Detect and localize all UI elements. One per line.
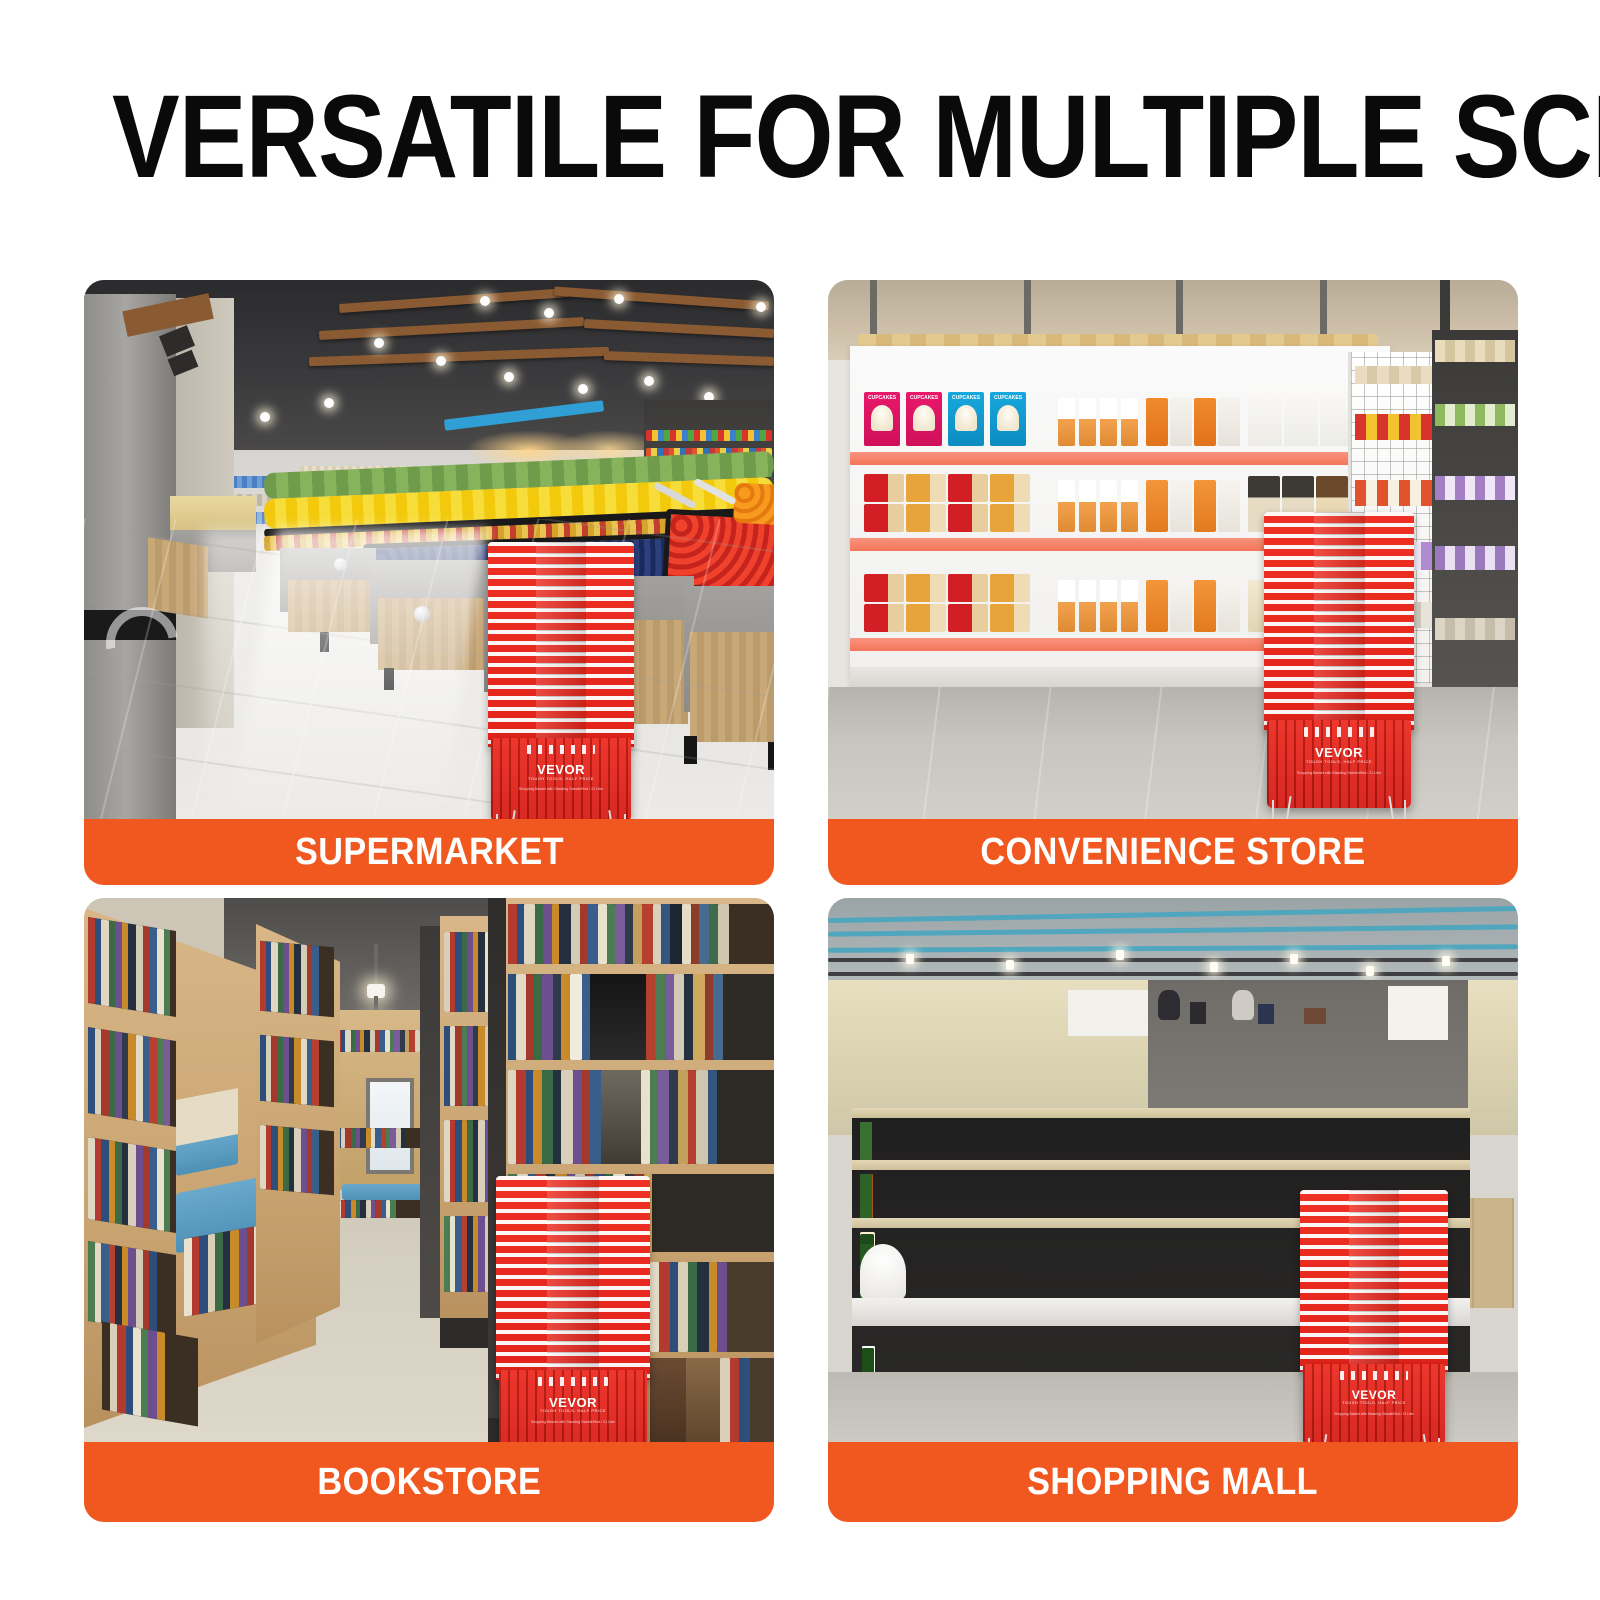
right-shelf-products [1435, 476, 1515, 500]
right-shelving [1432, 330, 1518, 699]
book-row [260, 941, 334, 1017]
track-light [614, 294, 624, 304]
product-drink-carton [1079, 580, 1096, 632]
right-shelf-products [1435, 546, 1515, 570]
product-cookie-box-gold [990, 504, 1030, 532]
panel-convenience-store: CUPCAKES CUPCAKES CUPCAKES [828, 280, 1518, 885]
book-row [650, 1262, 774, 1352]
panel-shopping-mall: VEVOR TOUGH TOOLS, HALF PRICE Shopping B… [828, 898, 1518, 1522]
product-cookie-box-red [864, 474, 904, 502]
brand-tagline: TOUGH TOOLS, HALF PRICE [1303, 1401, 1445, 1405]
endcap-products [1355, 480, 1439, 506]
basket-fine-print: Shopping Basket with Stacking Stand\nRed… [526, 1420, 621, 1424]
product-cookie-box-gold [906, 574, 946, 602]
product-cookie-box-red [948, 604, 988, 632]
ceiling-light [1006, 960, 1014, 970]
caption-bookstore: BOOKSTORE [84, 1442, 774, 1522]
track-light [544, 308, 554, 318]
product-white-box [1218, 480, 1240, 532]
shelf-board [852, 1160, 1470, 1170]
basket-stack-handles [488, 542, 634, 747]
vevor-basket-stack: VEVOR TOUGH TOOLS, HALF PRICE Shopping B… [488, 542, 634, 819]
book-row [88, 1027, 176, 1127]
basket-stack-handles [496, 1176, 650, 1380]
caption-label: SHOPPING MALL [1028, 1461, 1319, 1504]
product-cookie-box-red [864, 574, 904, 602]
product-cupcakes-blue: CUPCAKES [990, 392, 1026, 446]
basket-stack-center [547, 1176, 599, 1380]
bookstore-scene: VEVOR TOUGH TOOLS, HALF PRICE Shopping B… [84, 898, 774, 1442]
product-white-box [1170, 398, 1192, 446]
product-cookie-box-red [948, 474, 988, 502]
shopping-mall-photo: VEVOR TOUGH TOOLS, HALF PRICE Shopping B… [828, 898, 1518, 1442]
panel-supermarket: VEVOR TOUGH TOOLS, HALF PRICE Shopping B… [84, 280, 774, 885]
case-post [420, 926, 442, 1318]
shelf-row-1 [860, 1118, 1462, 1160]
product-cookie-box-gold [990, 604, 1030, 632]
product-drink-carton [1058, 398, 1075, 446]
basket-vent-slots [1340, 1371, 1408, 1380]
bookstore-photo: VEVOR TOUGH TOOLS, HALF PRICE Shopping B… [84, 898, 774, 1442]
product-drink-carton [1100, 480, 1117, 532]
product-cookie-box-red [948, 504, 988, 532]
product-cookie-box-gold [906, 604, 946, 632]
product-drink-carton [1100, 398, 1117, 446]
track-light [644, 376, 654, 386]
product-drink-carton [1058, 480, 1075, 532]
basket-fine-print: Shopping Basket with Stacking Stand\nRed… [516, 787, 606, 791]
track-light [480, 296, 490, 306]
basket-body: VEVOR TOUGH TOOLS, HALF PRICE Shopping B… [1267, 720, 1411, 808]
product-label: CUPCAKES [952, 395, 980, 401]
cupcake-illustration [955, 405, 977, 431]
track-light [324, 398, 334, 408]
product-drink-carton [1121, 480, 1138, 532]
track-light [374, 338, 384, 348]
book-row [508, 904, 774, 964]
book-row [88, 1137, 176, 1233]
basket-stack-center [1314, 512, 1365, 730]
caption-convenience-store: CONVENIENCE STORE [828, 819, 1518, 885]
pendant-light [374, 944, 378, 986]
brand-tagline: TOUGH TOOLS, HALF PRICE [491, 777, 631, 781]
product-orange-box [1194, 480, 1216, 532]
mannequin [1158, 990, 1180, 1020]
book-row [508, 1070, 774, 1164]
right-shelf-products [1435, 340, 1515, 362]
product-cookie-box-gold [990, 574, 1030, 602]
product-snack-bag [1248, 388, 1282, 446]
basket-stack-center [536, 542, 586, 747]
book-row [260, 1125, 334, 1195]
scene-grid: VEVOR TOUGH TOOLS, HALF PRICE Shopping B… [84, 280, 1518, 1522]
basket-vent-slots [1304, 727, 1373, 737]
track-light [578, 384, 588, 394]
ceiling-light [906, 954, 914, 964]
page-title: VERSATILE FOR MULTIPLE SCENES [112, 78, 1488, 196]
product-cookie-box-red [864, 604, 904, 632]
ceiling-light [1366, 966, 1374, 976]
caption-label: SUPERMARKET [294, 831, 563, 874]
product-snack-bag [1284, 388, 1318, 446]
supermarket-scene: VEVOR TOUGH TOOLS, HALF PRICE Shopping B… [84, 280, 774, 819]
track-light [504, 372, 514, 382]
product-cupcakes-blue: CUPCAKES [948, 392, 984, 446]
window [366, 1078, 414, 1174]
track-light [756, 302, 766, 312]
shopping-mall-scene: VEVOR TOUGH TOOLS, HALF PRICE Shopping B… [828, 898, 1518, 1442]
product-drink-carton [1121, 580, 1138, 632]
vevor-basket-stack: VEVOR TOUGH TOOLS, HALF PRICE Shopping B… [1300, 1190, 1448, 1442]
display-bag [1190, 1002, 1206, 1024]
caption-label: CONVENIENCE STORE [980, 831, 1365, 874]
panel-bookstore: VEVOR TOUGH TOOLS, HALF PRICE Shopping B… [84, 898, 774, 1522]
product-white-box [1170, 580, 1192, 632]
product-cookie-box-red [948, 574, 988, 602]
product-cupcakes-pink: CUPCAKES [906, 392, 942, 446]
vevor-basket-stack: VEVOR TOUGH TOOLS, HALF PRICE Shopping B… [496, 1176, 650, 1442]
basket-stand-wire [1272, 800, 1406, 819]
brand-tagline: TOUGH TOOLS, HALF PRICE [1267, 760, 1411, 764]
product-drink-carton [1079, 398, 1096, 446]
shelf-lip [850, 452, 1390, 465]
product-drink-carton [1121, 398, 1138, 446]
product-orange-box [1194, 580, 1216, 632]
brand-name: VEVOR [1352, 1388, 1397, 1402]
basket-body: VEVOR TOUGH TOOLS, HALF PRICE Shopping B… [499, 1370, 647, 1442]
book-row [102, 1322, 198, 1427]
product-cookie-box-gold [906, 474, 946, 502]
track-light [436, 356, 446, 366]
book-row [650, 1358, 774, 1442]
product-drink-carton [1100, 580, 1117, 632]
product-label: CUPCAKES [910, 395, 938, 401]
product-drink-carton [1079, 480, 1096, 532]
book-row [88, 917, 176, 1017]
basket-stack-handles [1300, 1190, 1448, 1372]
basket-brand-logo: VEVOR TOUGH TOOLS, HALF PRICE [499, 1396, 647, 1414]
product-cookie-box-red [864, 504, 904, 532]
basket-fine-print: Shopping Basket with Stacking Stand\nRed… [1293, 771, 1385, 775]
light-track [828, 958, 1518, 962]
basket-brand-logo: VEVOR TOUGH TOOLS, HALF PRICE [1303, 1389, 1445, 1406]
product-white-box [1218, 580, 1240, 632]
ceiling-light [1442, 956, 1450, 966]
product-label: CUPCAKES [868, 395, 896, 401]
convenience-store-scene: CUPCAKES CUPCAKES CUPCAKES [828, 280, 1518, 819]
product-orange-box [1146, 580, 1168, 632]
floor-tile-lines [828, 687, 1518, 819]
ceiling-light [1116, 950, 1124, 960]
basket-stack-handles [1264, 512, 1414, 730]
basket-fine-print: Shopping Basket with Stacking Stand\nRed… [1329, 1412, 1420, 1416]
wall-display-panel [1068, 990, 1148, 1036]
convenience-store-photo: CUPCAKES CUPCAKES CUPCAKES [828, 280, 1518, 819]
supermarket-photo: VEVOR TOUGH TOOLS, HALF PRICE Shopping B… [84, 280, 774, 819]
marketing-image: VERSATILE FOR MULTIPLE SCENES [0, 0, 1600, 1600]
product-white-box [1170, 480, 1192, 532]
brand-name: VEVOR [537, 762, 585, 777]
right-shelf-products [1435, 404, 1515, 426]
ceiling-light [1290, 954, 1298, 964]
light-track [828, 972, 1518, 976]
basket-brand-logo: VEVOR TOUGH TOOLS, HALF PRICE [491, 763, 631, 781]
caption-label: BOOKSTORE [317, 1461, 541, 1504]
book-row [260, 1035, 334, 1107]
product-orange-box [1194, 398, 1216, 446]
book-row [508, 974, 774, 1060]
basket-vent-slots [538, 1377, 609, 1386]
wall-display-panel [1388, 986, 1448, 1040]
vevor-basket-stack: VEVOR TOUGH TOOLS, HALF PRICE Shopping B… [1264, 512, 1414, 819]
product-cookie-box-gold [906, 504, 946, 532]
shelf-row-1: CUPCAKES CUPCAKES CUPCAKES [850, 382, 1390, 454]
mannequin [1232, 990, 1254, 1020]
endcap-products [1355, 366, 1439, 384]
basket-body: VEVOR TOUGH TOOLS, HALF PRICE Shopping B… [1303, 1364, 1445, 1442]
display-bag [1304, 1008, 1326, 1024]
track-light [260, 412, 270, 422]
right-shelf-products [1435, 618, 1515, 640]
basket-brand-logo: VEVOR TOUGH TOOLS, HALF PRICE [1267, 746, 1411, 764]
display-bag [1258, 1004, 1274, 1024]
endcap-products [1355, 414, 1439, 440]
product-white-box [1218, 398, 1240, 446]
shelf-board [852, 1108, 1470, 1118]
brand-tagline: TOUGH TOOLS, HALF PRICE [499, 1409, 647, 1413]
cupcake-illustration [997, 405, 1019, 431]
basket-vent-slots [527, 745, 594, 754]
product-cookie-box-gold [990, 474, 1030, 502]
ceiling-light [1210, 962, 1218, 972]
caption-supermarket: SUPERMARKET [84, 819, 774, 885]
caption-shopping-mall: SHOPPING MALL [828, 1442, 1518, 1522]
product-label: CUPCAKES [994, 395, 1022, 401]
cupcake-illustration [871, 405, 893, 431]
product-drink-carton [1058, 580, 1075, 632]
product-orange-box [1146, 398, 1168, 446]
cupcake-illustration [913, 405, 935, 431]
product-cupcakes-pink: CUPCAKES [864, 392, 900, 446]
basket-stack-center [1349, 1190, 1399, 1372]
product-orange-box [1146, 480, 1168, 532]
basket-body: VEVOR TOUGH TOOLS, HALF PRICE Shopping B… [491, 738, 631, 819]
